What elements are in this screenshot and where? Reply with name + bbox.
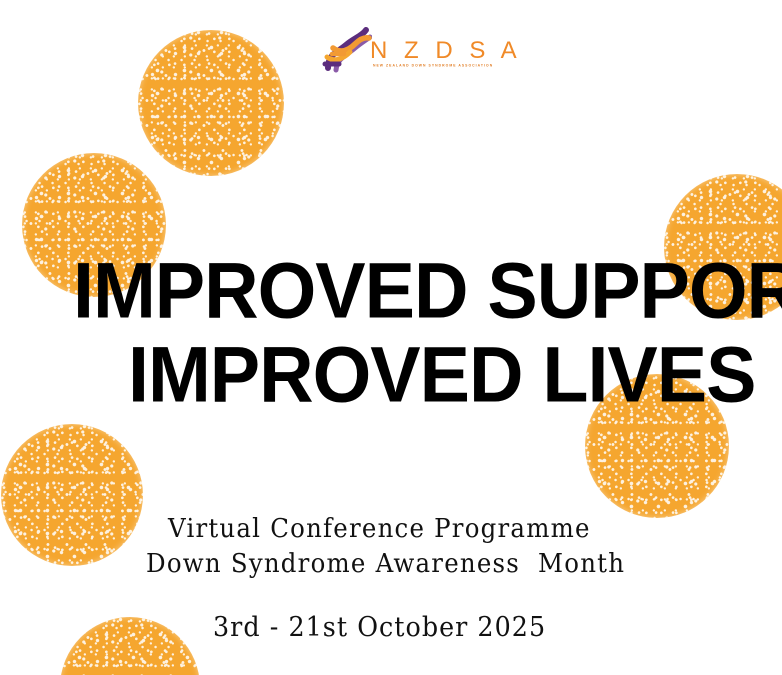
- nzdsa-helix-icon: [322, 24, 372, 76]
- circle-top-center: [138, 30, 284, 176]
- logo-wordmark: N Z D S A: [370, 39, 522, 63]
- nzdsa-logo: N Z D S A NEW ZEALAND DOWN SYNDROME ASSO…: [322, 24, 462, 80]
- circle-bottom: [60, 617, 200, 675]
- conference-poster: N Z D S A NEW ZEALAND DOWN SYNDROME ASSO…: [0, 0, 782, 675]
- logo-tagline: NEW ZEALAND DOWN SYNDROME ASSOCIATION: [373, 64, 493, 68]
- subtitle-line-2: Down Syndrome Awareness Month: [146, 551, 625, 577]
- event-date: 3rd - 21st October 2025: [213, 614, 546, 641]
- headline-line-1: IMPROVED SUPPORT: [73, 252, 782, 330]
- headline-line-2: IMPROVED LIVES: [128, 336, 755, 414]
- circle-left-lower: [1, 424, 143, 566]
- subtitle-line-1: Virtual Conference Programme: [168, 516, 591, 542]
